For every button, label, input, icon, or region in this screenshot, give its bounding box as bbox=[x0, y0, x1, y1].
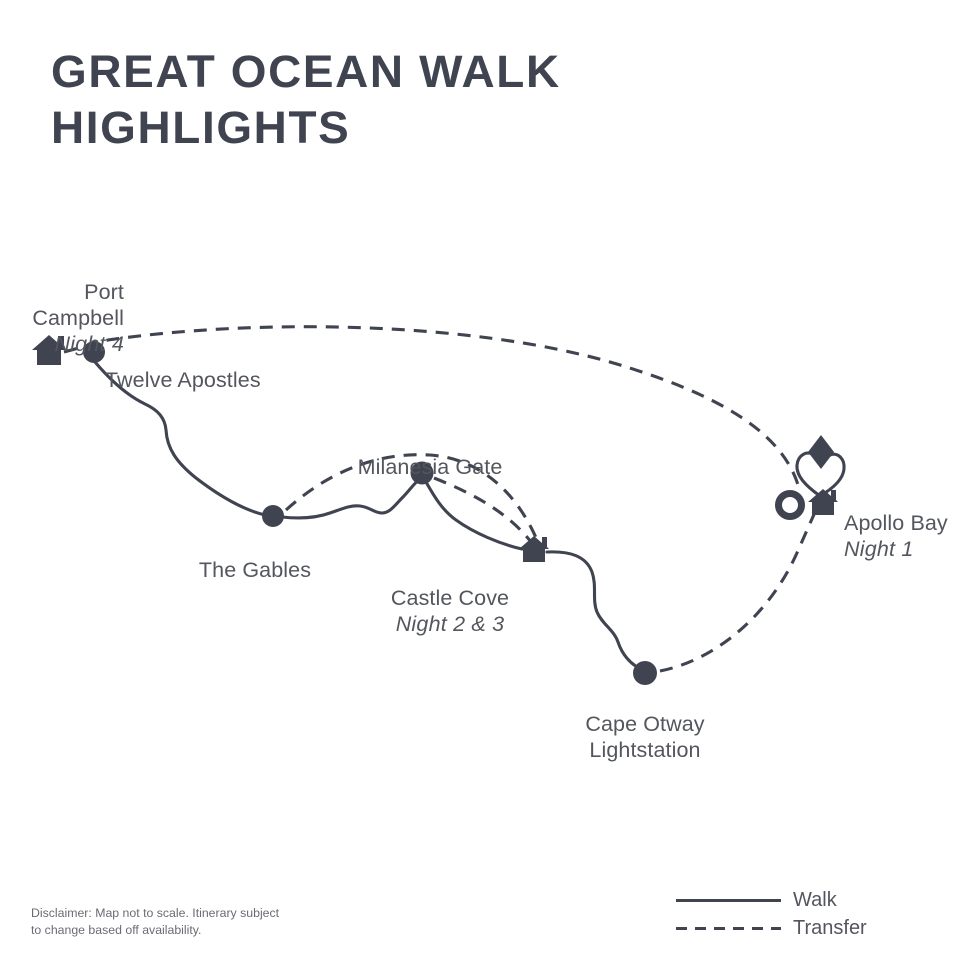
label-twelve-apostles-name: Twelve Apostles bbox=[105, 368, 261, 392]
label-milanesia-gate: Milanesia Gate bbox=[312, 428, 548, 480]
label-cape-otway-lightstation: Cape Otway Lightstation bbox=[520, 685, 770, 763]
house-icon bbox=[808, 489, 838, 515]
label-castle-cove: Castle Cove Night 2 & 3 bbox=[330, 559, 570, 663]
transfer-line-swatch bbox=[676, 927, 781, 930]
legend-label-walk: Walk bbox=[793, 886, 837, 914]
diamond-icon[interactable] bbox=[808, 435, 834, 469]
marker-apollo-bay-ring[interactable] bbox=[779, 494, 802, 517]
disclaimer-text: Disclaimer: Map not to scale. Itinerary … bbox=[31, 905, 331, 938]
walk-line-swatch bbox=[676, 899, 781, 902]
label-twelve-apostles: Twelve Apostles bbox=[105, 341, 325, 393]
marker-cape-otway-lightstation[interactable] bbox=[633, 661, 657, 685]
label-milanesia-gate-name: Milanesia Gate bbox=[358, 455, 503, 479]
transfer-milanesia-gate-to-castle-cove bbox=[434, 478, 531, 542]
label-apollo-bay-night: Night 1 bbox=[844, 536, 960, 562]
legend-row-transfer: Transfer bbox=[676, 914, 946, 942]
map-container: GREAT OCEAN WALK HIGHLIGHTS bbox=[0, 0, 960, 960]
marker-apollo-bay[interactable] bbox=[808, 489, 838, 515]
label-apollo-bay: Apollo Bay Night 1 bbox=[844, 484, 960, 588]
map-legend: Walk Transfer bbox=[676, 886, 946, 942]
label-port-campbell-name: Port Campbell bbox=[32, 280, 124, 330]
legend-label-transfer: Transfer bbox=[793, 914, 867, 942]
marker-the-gables[interactable] bbox=[262, 505, 284, 527]
transfer-cape-otway-to-apollo-bay bbox=[660, 506, 818, 671]
label-castle-cove-night: Night 2 & 3 bbox=[330, 611, 570, 637]
label-cape-otway-name: Cape Otway Lightstation bbox=[585, 712, 704, 762]
label-castle-cove-name: Castle Cove bbox=[391, 586, 509, 610]
label-apollo-bay-name: Apollo Bay bbox=[844, 511, 948, 535]
route-map-graphic bbox=[0, 0, 960, 960]
legend-row-walk: Walk bbox=[676, 886, 946, 914]
walk-the-gables-to-milanesia-gate bbox=[282, 478, 421, 518]
label-the-gables-name: The Gables bbox=[199, 558, 311, 582]
